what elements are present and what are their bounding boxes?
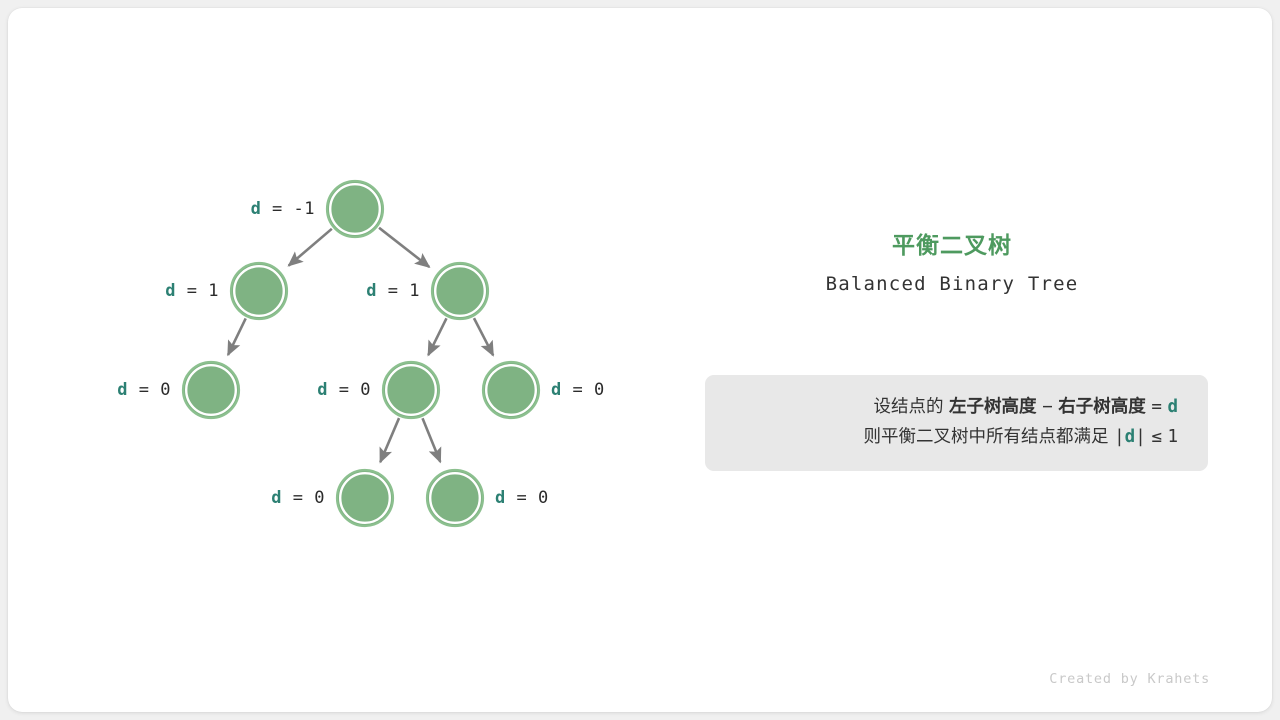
node-label-symbol: d [317, 380, 328, 400]
tree-node-fill [488, 367, 534, 413]
info-line1-term-right: 右子树高度 [1058, 397, 1146, 417]
info-line2-value: d [1125, 427, 1136, 447]
node-balance-label: d = 1 [366, 281, 420, 301]
tree-node-fill [332, 186, 378, 232]
node-label-value: = 0 [128, 380, 171, 400]
info-line2-comparator: ≤ [1151, 427, 1162, 447]
tree-node [327, 181, 383, 237]
tree-node-fill [236, 268, 282, 314]
info-line1-equals: = [1151, 397, 1162, 417]
tree-edge [379, 228, 429, 267]
tree-node [427, 470, 483, 526]
info-line2-prefix: 则平衡二叉树中所有结点都满足 [864, 427, 1109, 447]
tree-graphic [8, 8, 1272, 712]
tree-edge [474, 318, 493, 355]
legend-title: 平衡二叉树 [697, 226, 1207, 260]
info-line1-value: d [1167, 397, 1178, 417]
node-label-symbol: d [251, 199, 262, 219]
legend-block: 平衡二叉树 Balanced Binary Tree [697, 226, 1207, 295]
info-line2-bar-close: | [1135, 427, 1146, 447]
info-line2-bar-open: | [1114, 427, 1125, 447]
node-label-value: = -1 [261, 199, 315, 219]
tree-node-fill [437, 268, 483, 314]
node-label-value: = 0 [562, 380, 605, 400]
node-label-symbol: d [495, 488, 506, 508]
node-label-value: = 0 [328, 380, 371, 400]
info-line-1: 设结点的 左子树高度 − 右子树高度 = d [729, 392, 1184, 422]
tree-node [231, 263, 287, 319]
node-label-value: = 1 [377, 281, 420, 301]
credit-text: Created by Krahets [1049, 671, 1210, 687]
node-label-symbol: d [271, 488, 282, 508]
info-line1-prefix: 设结点的 [873, 397, 943, 417]
tree-node [483, 362, 539, 418]
node-balance-label: d = 0 [551, 380, 605, 400]
tree-node-fill [188, 367, 234, 413]
tree-edge [380, 418, 399, 462]
info-line2-bound: 1 [1167, 427, 1178, 447]
node-label-symbol: d [165, 281, 176, 301]
node-balance-label: d = 0 [271, 488, 325, 508]
tree-node [383, 362, 439, 418]
tree-node-fill [432, 475, 478, 521]
node-label-value: = 1 [176, 281, 219, 301]
tree-edge [289, 229, 332, 266]
node-label-symbol: d [117, 380, 128, 400]
node-label-symbol: d [366, 281, 377, 301]
node-balance-label: d = 1 [165, 281, 219, 301]
tree-node [432, 263, 488, 319]
info-line-2: 则平衡二叉树中所有结点都满足 |d| ≤ 1 [729, 422, 1184, 452]
tree-edge [228, 318, 246, 354]
tree-node-fill [342, 475, 388, 521]
legend-subtitle: Balanced Binary Tree [697, 273, 1207, 295]
info-box: 设结点的 左子树高度 − 右子树高度 = d 则平衡二叉树中所有结点都满足 |d… [705, 375, 1208, 471]
tree-node [337, 470, 393, 526]
tree-nodes [183, 181, 539, 526]
tree-edge [428, 318, 446, 355]
node-balance-label: d = -1 [251, 199, 315, 219]
node-label-value: = 0 [506, 488, 549, 508]
tree-node [183, 362, 239, 418]
tree-node-fill [388, 367, 434, 413]
node-label-symbol: d [551, 380, 562, 400]
node-balance-label: d = 0 [317, 380, 371, 400]
diagram-canvas: d = -1d = 1d = 1d = 0d = 0d = 0d = 0d = … [8, 8, 1272, 712]
info-line1-operator: − [1042, 397, 1053, 417]
tree-edge [423, 418, 441, 462]
info-line1-term-left: 左子树高度 [949, 397, 1037, 417]
node-balance-label: d = 0 [495, 488, 549, 508]
node-label-value: = 0 [282, 488, 325, 508]
node-balance-label: d = 0 [117, 380, 171, 400]
